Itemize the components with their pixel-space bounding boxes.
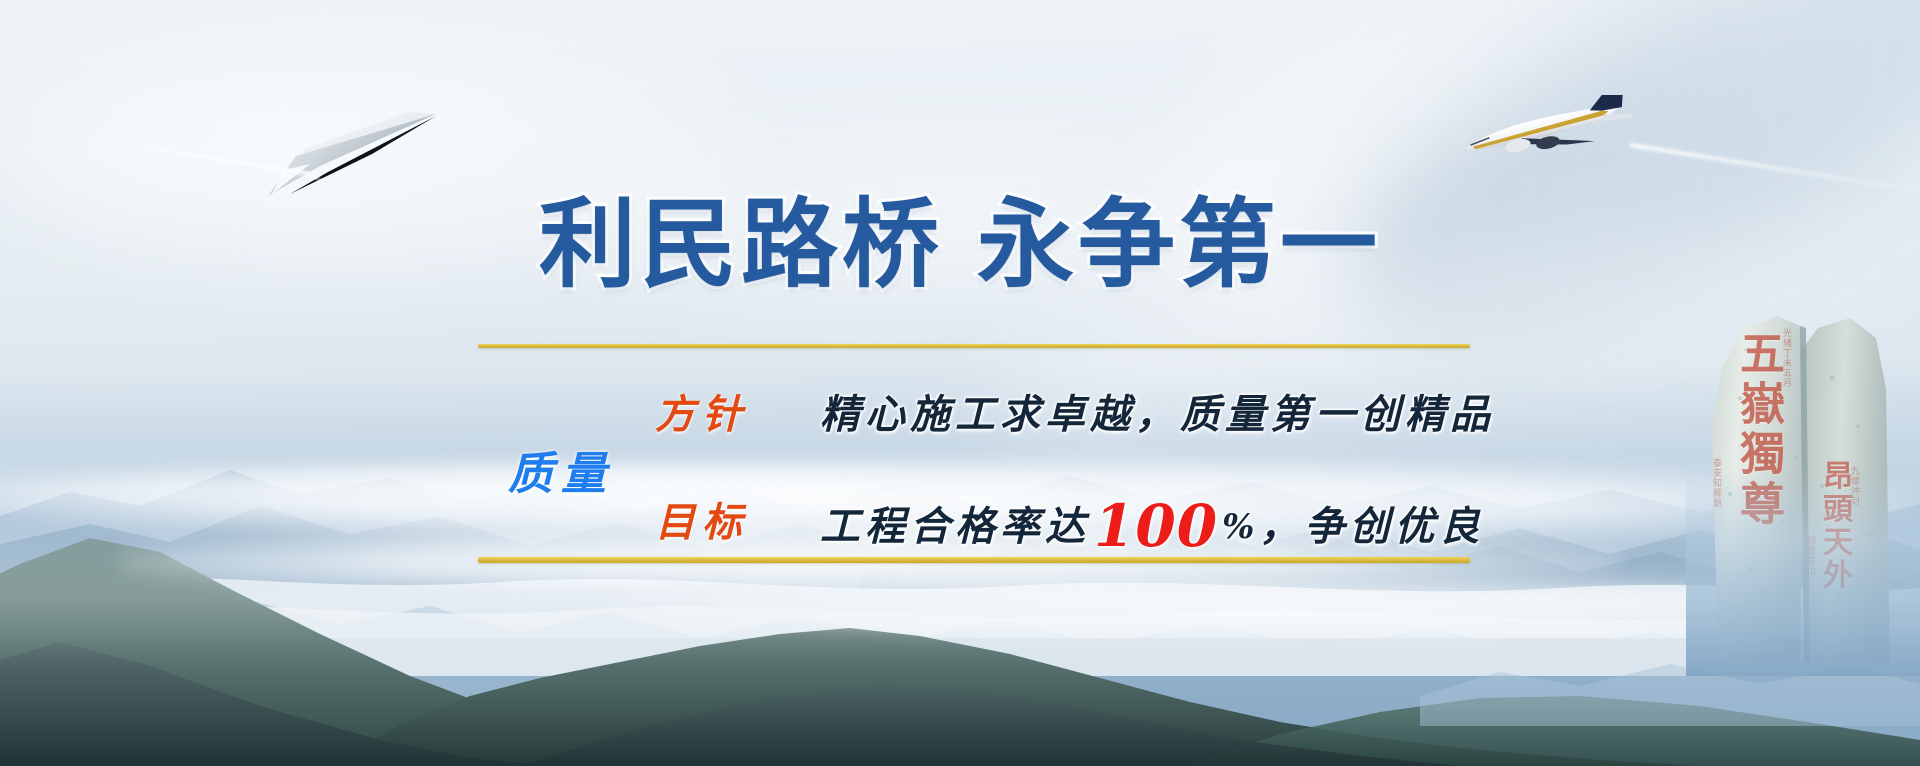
policy-slogan: 精心施工求卓越，质量第一创精品	[820, 382, 1495, 440]
airplane-icon	[1455, 95, 1635, 165]
headline-part-2: 永争第一	[977, 188, 1381, 301]
headline-part-1: 利民路桥	[539, 188, 943, 301]
monument-small-text-1: 光緒丁未五月	[1780, 328, 1793, 388]
goal-slogan-prefix: 工程合格率达	[820, 503, 1090, 550]
paper-plane-group	[250, 110, 440, 200]
monument-small-text-4: 同登泰山	[1804, 536, 1817, 576]
monument-small-text-2: 泰安知縣題	[1710, 458, 1723, 508]
quality-label: 质量	[508, 437, 614, 502]
airplane-group	[1455, 95, 1635, 165]
goal-label: 目标	[655, 490, 749, 548]
promotional-banner: 五嶽獨尊 昂頭天外 光緒丁未五月 泰安知縣題 九懷沖封 同登泰山	[0, 0, 1920, 766]
goal-slogan: 工程合格率达100%，争创优良	[820, 492, 1484, 560]
monument-small-text-3: 九懷沖封	[1848, 466, 1861, 506]
stone-monument: 五嶽獨尊 昂頭天外 光緒丁未五月 泰安知縣題 九懷沖封 同登泰山	[1700, 308, 1915, 668]
page-title: 利民路桥永争第一	[0, 196, 1920, 293]
divider-gold-top	[478, 344, 1470, 348]
goal-percent-sign: %	[1222, 507, 1259, 547]
goal-slogan-suffix: ，争创优良	[1259, 503, 1484, 550]
goal-highlight-value: 100	[1090, 492, 1222, 560]
paper-plane-icon	[250, 110, 440, 200]
paper-plane-body	[268, 114, 436, 196]
policy-label: 方针	[655, 382, 749, 440]
